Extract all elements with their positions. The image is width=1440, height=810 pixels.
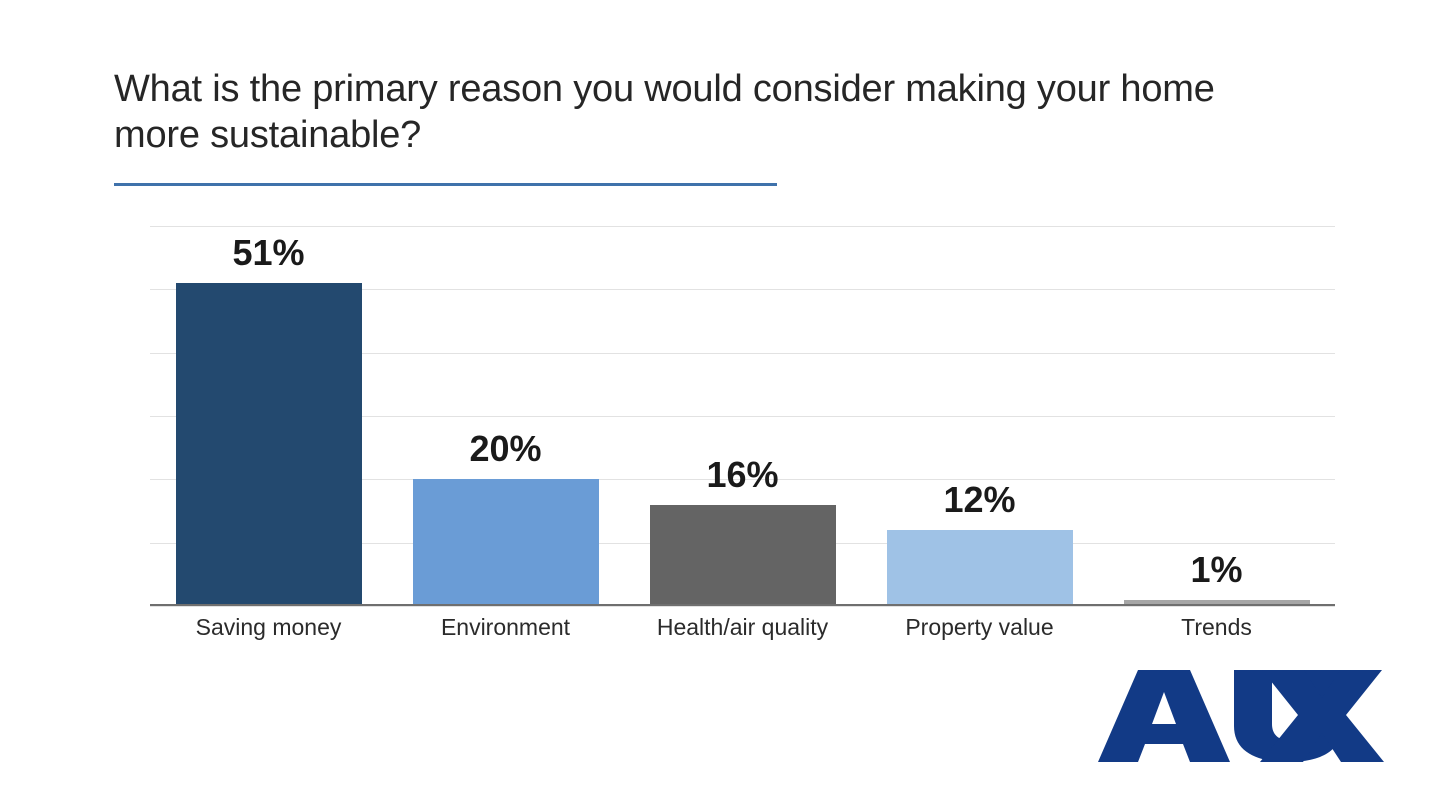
- bar-slot: 1%: [1098, 226, 1335, 606]
- gridline: [150, 606, 1335, 607]
- bar-value-label: 51%: [232, 235, 304, 271]
- bar-value-label: 12%: [943, 482, 1015, 518]
- aux-logo-icon: [1098, 670, 1384, 762]
- title-block: What is the primary reason you would con…: [114, 66, 1314, 159]
- bar-chart: 51%20%16%12%1%: [150, 226, 1335, 606]
- category-slot: Trends: [1098, 614, 1335, 641]
- bar[interactable]: [413, 479, 599, 606]
- chart-bars: 51%20%16%12%1%: [150, 226, 1335, 606]
- bar[interactable]: [650, 505, 836, 606]
- category-label-1: Saving money: [196, 614, 342, 640]
- chart-axis-line: [150, 604, 1335, 606]
- bar-slot: 12%: [861, 226, 1098, 606]
- aux-logo: [1098, 670, 1384, 762]
- title-underline-rule: [114, 183, 777, 186]
- bar-value-label: 16%: [706, 457, 778, 493]
- bar[interactable]: [176, 283, 362, 606]
- bar[interactable]: [887, 530, 1073, 606]
- category-slot: Property value: [861, 614, 1098, 641]
- bar-slot: 20%: [387, 226, 624, 606]
- category-slot: Saving money: [150, 614, 387, 641]
- category-slot: Health/air quality: [624, 614, 861, 641]
- category-label-5: Trends: [1181, 614, 1252, 640]
- category-label-3: Health/air quality: [657, 614, 828, 640]
- page-title: What is the primary reason you would con…: [114, 66, 1314, 159]
- category-label-4: Property value: [905, 614, 1053, 640]
- chart-category-labels: Saving moneyEnvironmentHealth/air qualit…: [150, 614, 1335, 641]
- bar-value-label: 1%: [1190, 552, 1242, 588]
- slide: What is the primary reason you would con…: [0, 0, 1440, 810]
- bar-slot: 16%: [624, 226, 861, 606]
- bar-value-label: 20%: [469, 431, 541, 467]
- category-slot: Environment: [387, 614, 624, 641]
- category-label-2: Environment: [441, 614, 570, 640]
- bar-slot: 51%: [150, 226, 387, 606]
